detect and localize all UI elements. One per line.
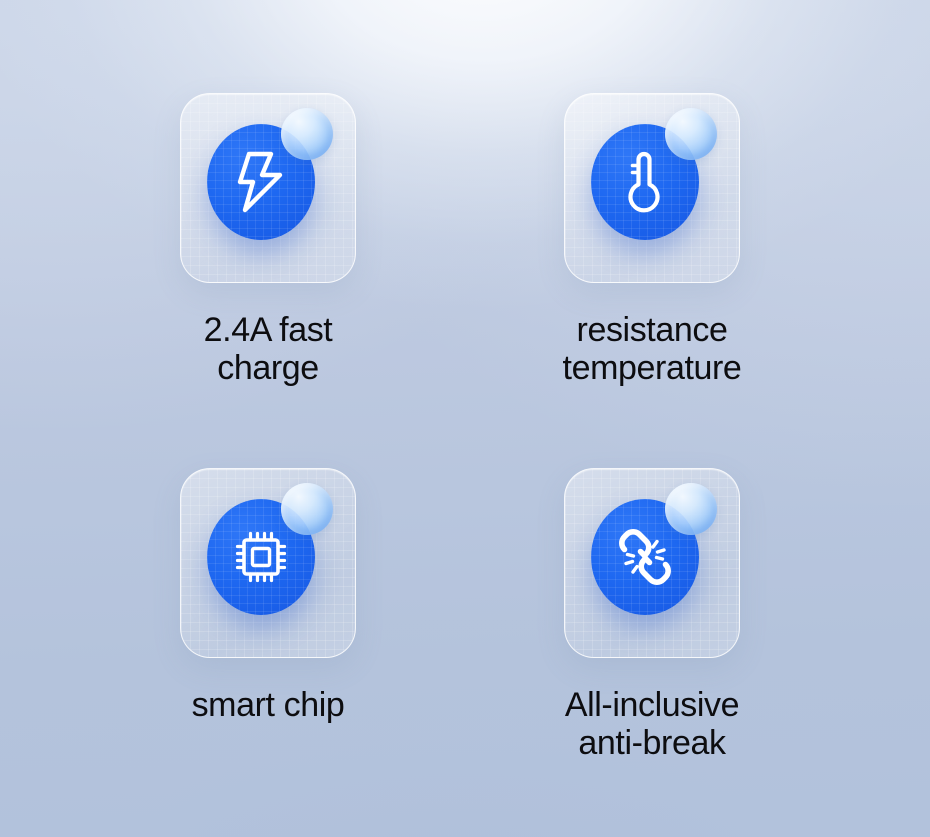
microchip-icon bbox=[231, 527, 291, 587]
feature-item-anti-break[interactable]: All-inclusive anti-break bbox=[522, 468, 782, 762]
feature-label: smart chip bbox=[138, 686, 398, 724]
feature-item-resistance-temperature[interactable]: resistance temperature bbox=[522, 93, 782, 387]
feature-label: resistance temperature bbox=[522, 311, 782, 387]
feature-label-line: 2.4A fast bbox=[138, 311, 398, 349]
glass-card bbox=[564, 93, 740, 283]
feature-label-line: smart chip bbox=[138, 686, 398, 724]
gloss-sphere bbox=[665, 108, 717, 160]
thermometer-icon bbox=[622, 150, 668, 214]
feature-label-line: resistance bbox=[522, 311, 782, 349]
gloss-sphere bbox=[281, 483, 333, 535]
broken-chain-link-icon bbox=[613, 525, 677, 589]
feature-label: 2.4A fast charge bbox=[138, 311, 398, 387]
feature-label-line: temperature bbox=[522, 349, 782, 387]
gloss-sphere bbox=[665, 483, 717, 535]
feature-grid: 2.4A fast charge resistance temperature bbox=[0, 0, 930, 837]
feature-item-fast-charge[interactable]: 2.4A fast charge bbox=[138, 93, 398, 387]
feature-label-line: charge bbox=[138, 349, 398, 387]
feature-item-smart-chip[interactable]: smart chip bbox=[138, 468, 398, 724]
glass-card bbox=[180, 93, 356, 283]
gloss-sphere bbox=[281, 108, 333, 160]
feature-label-line: All-inclusive bbox=[522, 686, 782, 724]
glass-card bbox=[180, 468, 356, 658]
feature-label-line: anti-break bbox=[522, 724, 782, 762]
glass-card bbox=[564, 468, 740, 658]
lightning-bolt-icon bbox=[235, 151, 287, 213]
feature-label: All-inclusive anti-break bbox=[522, 686, 782, 762]
